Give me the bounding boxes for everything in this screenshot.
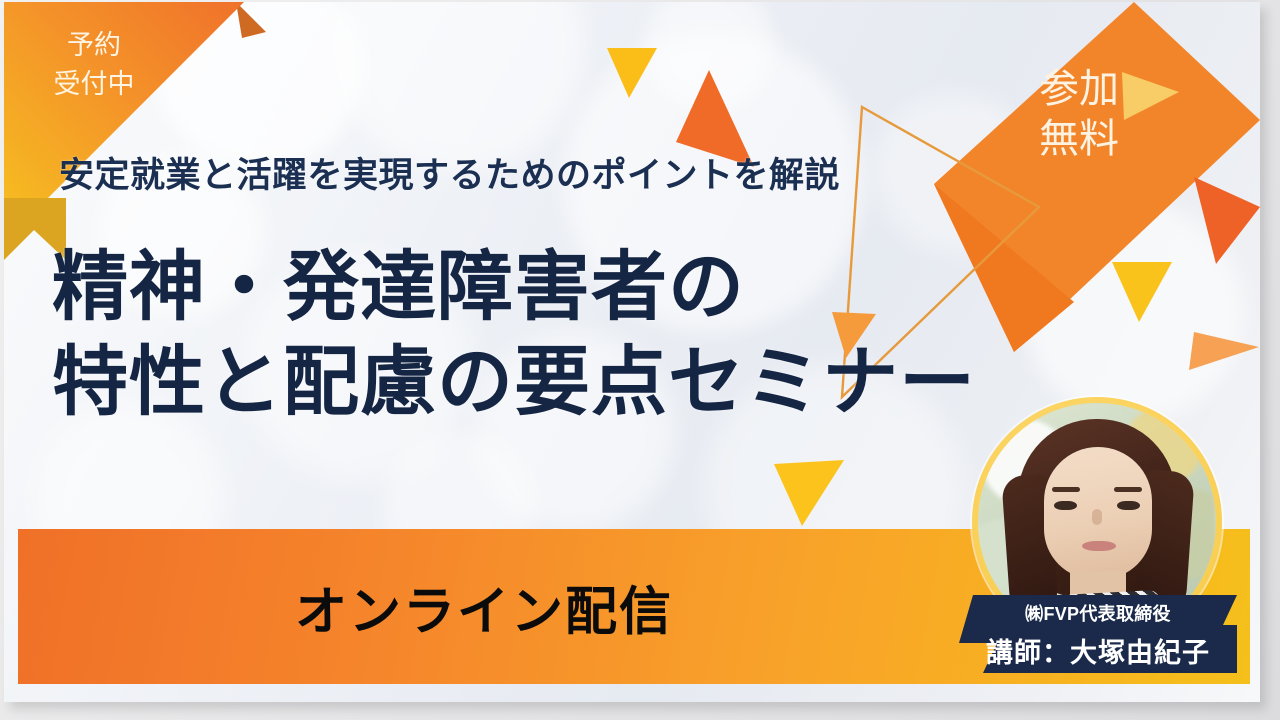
title-line-1: 精神・発達障害者の: [52, 240, 976, 335]
triangle-yellow-lower: [774, 460, 844, 526]
portrait-brow-left: [1052, 487, 1080, 492]
delivery-label: オンライン配信: [18, 569, 950, 644]
portrait-mouth: [1082, 541, 1116, 551]
triangle-peach-right: [1189, 332, 1259, 370]
portrait-eye-right: [1117, 501, 1140, 510]
ribbon-fold-top: [236, 2, 266, 38]
title-line-2: 特性と配慮の要点セミナー: [52, 335, 976, 430]
speaker-role: ㈱FVP代表取締役: [959, 600, 1237, 626]
speaker-nameplate: ㈱FVP代表取締役 講師：大塚由紀子: [959, 595, 1237, 673]
triangle-orange-right: [1194, 177, 1260, 264]
free-line-1: 参加: [1014, 64, 1144, 114]
reservation-line-2: 受付中: [34, 65, 154, 104]
triangle-yellow-small: [607, 48, 657, 98]
speaker-name: 講師：大塚由紀子: [959, 631, 1237, 670]
free-line-2: 無料: [1014, 114, 1144, 164]
portrait-brow-right: [1114, 487, 1142, 492]
free-badge-text: 参加 無料: [1014, 64, 1144, 164]
banner-card: 予約 受付中 参加 無料 安定就業と活躍を実現するためのポイントを解説 精神・発…: [4, 2, 1260, 702]
reservation-badge-text: 予約 受付中: [34, 26, 154, 104]
triangle-yellow-right: [1112, 262, 1172, 322]
reservation-line-1: 予約: [34, 26, 154, 65]
triangle-large-orange: [934, 2, 1260, 352]
banner-subtitle: 安定就業と活躍を実現するためのポイントを解説: [59, 147, 840, 198]
portrait-nose: [1092, 509, 1102, 525]
banner-title: 精神・発達障害者の 特性と配慮の要点セミナー: [52, 240, 976, 430]
seminar-banner: 予約 受付中 参加 無料 安定就業と活躍を実現するためのポイントを解説 精神・発…: [0, 0, 1280, 720]
portrait-eye-left: [1054, 501, 1077, 510]
